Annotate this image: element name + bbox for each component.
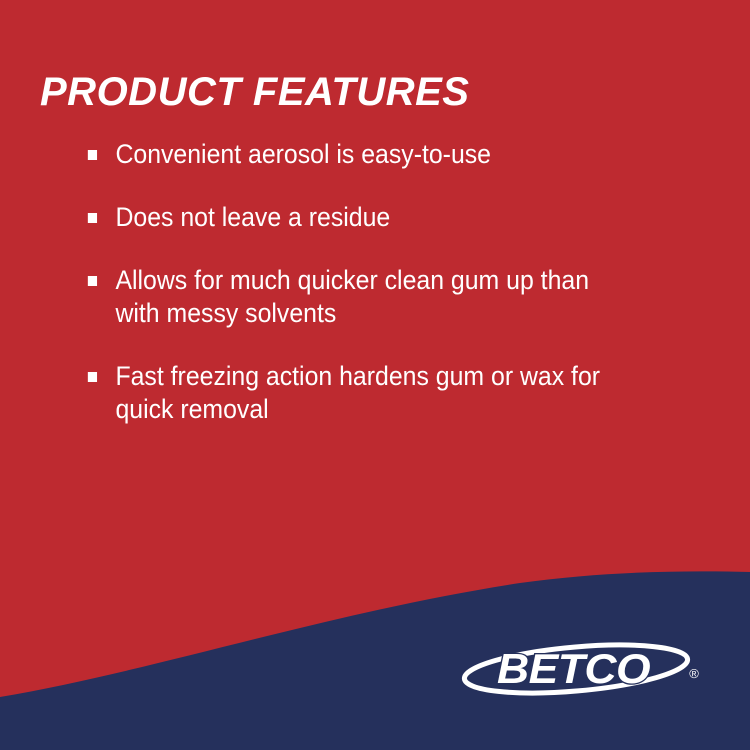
betco-wordmark-text: BETCO: [497, 646, 650, 693]
registered-trademark-icon: ®: [689, 666, 699, 681]
bullet-square-icon: [88, 372, 97, 382]
product-features-card: PRODUCT FEATURES Convenient aerosol is e…: [0, 0, 750, 750]
list-item-label: Convenient aerosol is easy-to-use: [115, 138, 619, 171]
list-item: Convenient aerosol is easy-to-use: [86, 138, 620, 171]
page-title: PRODUCT FEATURES: [40, 70, 469, 114]
bullet-square-icon: [88, 213, 97, 223]
product-features-list: Convenient aerosol is easy-to-use Does n…: [86, 138, 666, 426]
bullet-square-icon: [88, 150, 97, 160]
betco-logo-mark: BETCO ®: [458, 638, 708, 700]
list-item-label: Allows for much quicker clean gum up tha…: [115, 264, 619, 330]
list-item: Allows for much quicker clean gum up tha…: [86, 264, 620, 330]
betco-logo: BETCO ®: [458, 638, 708, 700]
list-item: Does not leave a residue: [86, 201, 620, 234]
list-item: Fast freezing action hardens gum or wax …: [86, 360, 620, 426]
bullet-square-icon: [88, 276, 97, 286]
list-item-label: Fast freezing action hardens gum or wax …: [115, 360, 619, 426]
list-item-label: Does not leave a residue: [115, 201, 619, 234]
